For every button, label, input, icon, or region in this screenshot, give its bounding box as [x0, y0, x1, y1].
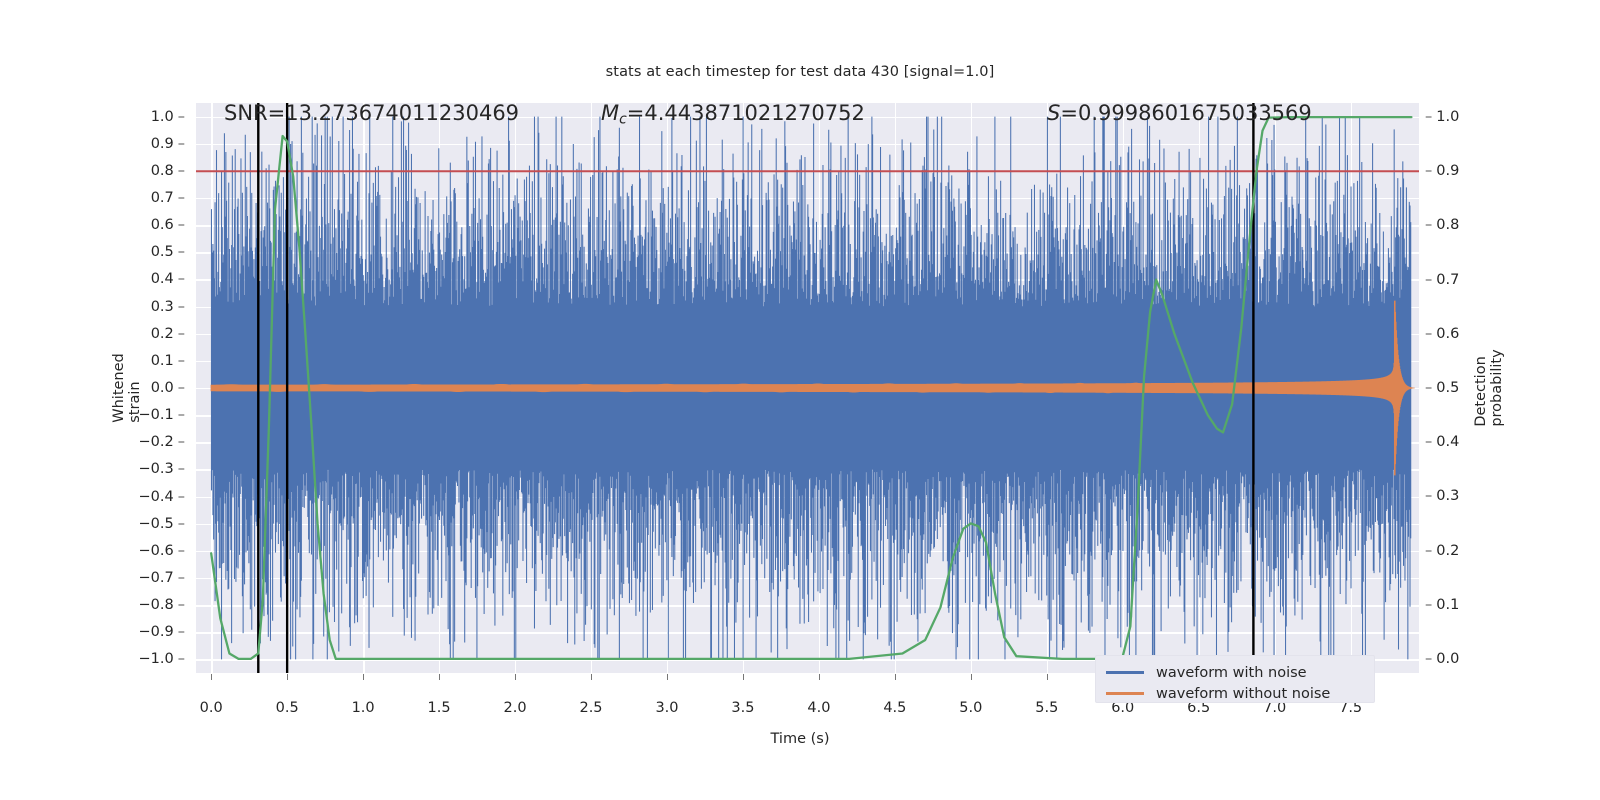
y-tick-label-left: −0.1	[139, 407, 174, 423]
y-axis-right-label: Detection probability	[1473, 349, 1505, 426]
y-axis-left-tick: −1.0–	[139, 651, 185, 667]
legend-item[interactable]: waveform without noise	[1106, 683, 1364, 704]
tick-mark: –	[1425, 380, 1432, 396]
tick-mark: –	[178, 190, 185, 206]
tick-mark: –	[178, 326, 185, 342]
annotation-mc-subscript: c	[619, 111, 627, 127]
x-tick-label: 1.0	[352, 700, 375, 716]
tick-mark: –	[1425, 217, 1432, 233]
chart-title: stats at each timestep for test data 430…	[0, 64, 1600, 80]
tick-mark: –	[178, 353, 185, 369]
legend-item[interactable]: waveform with noise	[1106, 662, 1364, 683]
x-tick-label: 4.5	[883, 700, 906, 716]
annotation-mc-value: 4.443871021270752	[644, 101, 864, 125]
plot-area	[196, 103, 1419, 673]
annotation-chirp-mass: Mc=4.443871021270752	[601, 101, 865, 127]
y-tick-label-right: 0.6	[1436, 326, 1459, 342]
tick-mark	[667, 674, 668, 680]
y-tick-label-right: 0.9	[1436, 163, 1459, 179]
tick-mark	[363, 674, 364, 680]
y-tick-label-left: −0.4	[139, 489, 174, 505]
y-axis-right-tick: –0.5	[1425, 380, 1459, 396]
y-axis-left-tick: 0.1–	[151, 353, 185, 369]
y-tick-label-left: 0.4	[151, 271, 174, 287]
tick-mark: –	[178, 163, 185, 179]
y-tick-label-right: 0.2	[1436, 543, 1459, 559]
y-tick-label-left: −1.0	[139, 651, 174, 667]
y-axis-left-tick: 0.0–	[151, 380, 185, 396]
tick-mark	[895, 674, 896, 680]
y-axis-right-tick: –0.8	[1425, 217, 1459, 233]
y-axis-left-tick: 0.4–	[151, 271, 185, 287]
tick-mark: –	[178, 299, 185, 315]
y-axis-left-tick: −0.8–	[139, 597, 185, 613]
y-axis-left-tick: −0.3–	[139, 461, 185, 477]
y-axis-left-tick: 0.7–	[151, 190, 185, 206]
tick-mark: –	[178, 217, 185, 233]
y-axis-left-tick: 0.8–	[151, 163, 185, 179]
annotation-s-equals: =	[1060, 101, 1078, 125]
annotation-s-value: 0.9998601675033569	[1078, 101, 1312, 125]
tick-mark: –	[178, 543, 185, 559]
y-tick-label-left: −0.2	[139, 434, 174, 450]
x-tick-label: 0.5	[276, 700, 299, 716]
y-axis-right-tick: –0.0	[1425, 651, 1459, 667]
tick-mark: –	[178, 407, 185, 423]
y-tick-label-left: 0.5	[151, 244, 174, 260]
tick-mark	[743, 674, 744, 680]
x-axis-label: Time (s)	[0, 731, 1600, 747]
y-tick-label-right: 0.3	[1436, 488, 1459, 504]
y-tick-label-left: 1.0	[151, 109, 174, 125]
tick-mark: –	[178, 434, 185, 450]
y-axis-right-tick: –1.0	[1425, 109, 1459, 125]
y-tick-label-right: 0.8	[1436, 217, 1459, 233]
tick-mark: –	[1425, 597, 1432, 613]
tick-mark: –	[1425, 326, 1432, 342]
y-axis-right-tick: –0.1	[1425, 597, 1459, 613]
y-tick-label-left: −0.5	[139, 516, 174, 532]
plot-svg	[196, 103, 1419, 673]
tick-mark	[1047, 674, 1048, 680]
tick-mark: –	[178, 624, 185, 640]
x-tick-label: 2.5	[579, 700, 602, 716]
y-tick-label-left: 0.9	[151, 136, 174, 152]
x-tick-label: 5.0	[959, 700, 982, 716]
tick-mark	[439, 674, 440, 680]
annotation-snr: SNR=13.273674011230469	[224, 101, 519, 125]
y-axis-left-tick: 0.9–	[151, 136, 185, 152]
legend-label: waveform without noise	[1156, 686, 1330, 702]
y-tick-label-right: 0.7	[1436, 272, 1459, 288]
legend-color-swatch	[1106, 671, 1144, 673]
tick-mark	[287, 674, 288, 680]
tick-mark: –	[1425, 488, 1432, 504]
tick-mark: –	[178, 489, 185, 505]
annotation-signal-score: S=0.9998601675033569	[1047, 101, 1312, 125]
tick-mark: –	[1425, 163, 1432, 179]
x-tick-label: 4.0	[807, 700, 830, 716]
y-axis-right-tick: –0.3	[1425, 488, 1459, 504]
y-tick-label-left: −0.9	[139, 624, 174, 640]
tick-mark: –	[178, 109, 185, 125]
y-axis-left-tick: −0.4–	[139, 489, 185, 505]
y-axis-left-tick: 0.3–	[151, 299, 185, 315]
x-tick-label: 1.5	[428, 700, 451, 716]
tick-mark: –	[1425, 109, 1432, 125]
tick-mark: –	[178, 570, 185, 586]
y-tick-label-left: −0.8	[139, 597, 174, 613]
y-axis-left-tick: 0.6–	[151, 217, 185, 233]
y-axis-right-tick: –0.2	[1425, 543, 1459, 559]
y-axis-left-label: Whitened strain	[111, 353, 143, 422]
y-tick-label-right: 0.4	[1436, 434, 1459, 450]
y-tick-label-left: 0.3	[151, 299, 174, 315]
y-tick-label-left: 0.6	[151, 217, 174, 233]
tick-mark: –	[178, 380, 185, 396]
y-tick-label-left: 0.1	[151, 353, 174, 369]
y-tick-label-left: 0.8	[151, 163, 174, 179]
tick-mark	[591, 674, 592, 680]
figure-canvas: stats at each timestep for test data 430…	[0, 0, 1600, 800]
y-tick-label-left: 0.0	[151, 380, 174, 396]
annotation-snr-text: SNR=13.273674011230469	[224, 101, 519, 125]
y-axis-left-tick: −0.5–	[139, 516, 185, 532]
y-tick-label-left: 0.2	[151, 326, 174, 342]
x-tick-label: 0.0	[200, 700, 223, 716]
legend-color-swatch	[1106, 692, 1144, 694]
tick-mark: –	[1425, 434, 1432, 450]
x-tick-label: 2.0	[504, 700, 527, 716]
legend-label: waveform with noise	[1156, 665, 1307, 681]
tick-mark	[819, 674, 820, 680]
y-axis-left-tick: −0.9–	[139, 624, 185, 640]
tick-mark: –	[1425, 272, 1432, 288]
y-tick-label-right: 0.5	[1436, 380, 1459, 396]
y-axis-right-tick: –0.6	[1425, 326, 1459, 342]
legend[interactable]: waveform with noisewaveform without nois…	[1095, 655, 1375, 703]
x-tick-label: 3.5	[731, 700, 754, 716]
y-axis-left-tick: 1.0–	[151, 109, 185, 125]
y-axis-left-tick: −0.6–	[139, 543, 185, 559]
y-tick-label-right: 0.1	[1436, 597, 1459, 613]
y-tick-label-right: 1.0	[1436, 109, 1459, 125]
annotation-mc-symbol: M	[601, 101, 619, 125]
y-axis-right-tick: –0.7	[1425, 272, 1459, 288]
annotation-mc-equals: =	[627, 101, 645, 125]
tick-mark: –	[178, 597, 185, 613]
tick-mark: –	[178, 516, 185, 532]
y-tick-label-right: 0.0	[1436, 651, 1459, 667]
y-tick-label-left: −0.7	[139, 570, 174, 586]
tick-mark: –	[178, 461, 185, 477]
y-axis-left-tick: 0.2–	[151, 326, 185, 342]
y-axis-left-tick: −0.1–	[139, 407, 185, 423]
tick-mark: –	[178, 271, 185, 287]
x-tick-label: 5.5	[1035, 700, 1058, 716]
tick-mark	[211, 674, 212, 680]
x-tick-label: 3.0	[655, 700, 678, 716]
y-axis-left-tick: −0.7–	[139, 570, 185, 586]
y-axis-right-tick: –0.9	[1425, 163, 1459, 179]
tick-mark: –	[178, 651, 185, 667]
y-tick-label-left: −0.3	[139, 461, 174, 477]
tick-mark: –	[178, 244, 185, 260]
y-tick-label-left: 0.7	[151, 190, 174, 206]
tick-mark	[971, 674, 972, 680]
y-axis-left-tick: 0.5–	[151, 244, 185, 260]
annotation-s-symbol: S	[1047, 101, 1060, 125]
tick-mark	[515, 674, 516, 680]
y-axis-right-tick: –0.4	[1425, 434, 1459, 450]
tick-mark: –	[1425, 651, 1432, 667]
y-tick-label-left: −0.6	[139, 543, 174, 559]
y-axis-left-tick: −0.2–	[139, 434, 185, 450]
tick-mark: –	[1425, 543, 1432, 559]
tick-mark: –	[178, 136, 185, 152]
